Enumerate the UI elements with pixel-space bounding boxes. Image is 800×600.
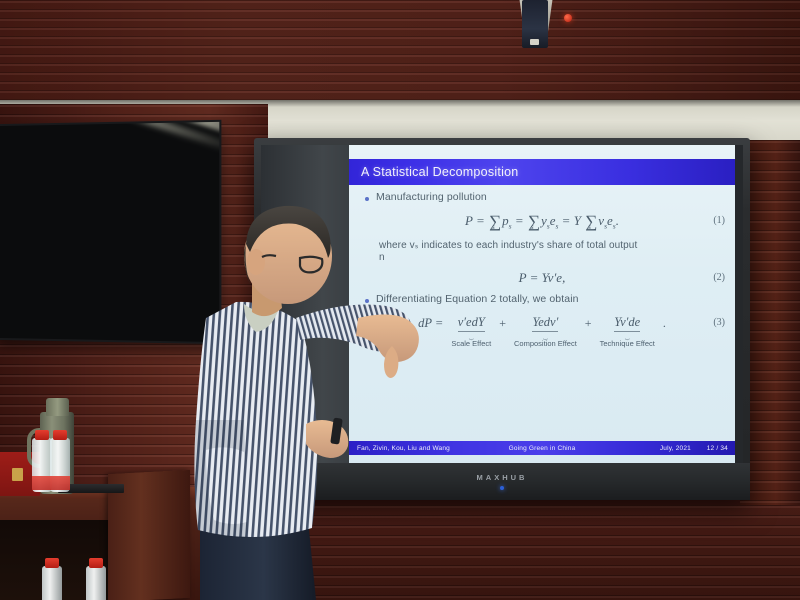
decomposition-term-scale: v′edY ⏟ Scale Effect xyxy=(451,315,491,348)
eq1-period: . xyxy=(616,213,619,228)
eq1-term-3-lead: Y xyxy=(574,213,581,228)
technique-effect-label: Technique Effect xyxy=(600,339,655,348)
slide-title-bar: A Statistical Decomposition xyxy=(349,159,735,185)
composition-effect-label: Composition Effect xyxy=(514,339,577,348)
equation-1-math: P = ∑sps = ∑syses = Y ∑svses. xyxy=(465,210,619,231)
footer-authors: Fan, Zivin, Kou, Liu and Wang xyxy=(357,445,450,452)
bullet-dot-icon xyxy=(365,197,369,201)
water-bottle-label xyxy=(50,476,70,490)
slide-note-occluded-text: n xyxy=(379,252,735,263)
decomposition-plus-1: + xyxy=(499,316,506,331)
decomposition-lead: dP = xyxy=(418,316,443,331)
water-bottle-cap xyxy=(89,558,103,568)
slide-note-text: where vₛ indicates to each industry's sh… xyxy=(379,240,735,251)
eq1-equals-3: = xyxy=(562,213,571,228)
equation-1-number: (1) xyxy=(713,215,725,226)
slide-footer-bar: Fan, Zivin, Kou, Liu and Wang Going Gree… xyxy=(349,441,735,455)
bullet-dot-icon xyxy=(365,299,369,303)
bullet-2-label: Differentiating Equation 2 totally, we o… xyxy=(376,293,579,305)
letterbox-pillar-right xyxy=(735,145,743,463)
eq1-sum-2-index: s xyxy=(531,223,534,231)
thermos-cap xyxy=(46,398,69,416)
equation-2-math: P = Yv′e, xyxy=(519,270,566,286)
equation-2-number: (2) xyxy=(713,272,725,283)
technique-effect-brace: ⏟ xyxy=(625,333,630,338)
ceiling-wall-panel xyxy=(0,0,800,108)
ceiling-camera-device xyxy=(522,0,548,48)
composition-effect-brace: ⏟ xyxy=(543,333,548,338)
ceiling-device-indicator-light xyxy=(564,14,572,22)
red-box-emblem-icon xyxy=(12,468,23,481)
slide-bullet-1: Manufacturing pollution xyxy=(365,191,735,203)
eq1-sum-3: ∑s xyxy=(584,210,598,230)
presentation-slide[interactable]: A Statistical Decomposition Manufacturin… xyxy=(349,145,735,463)
bullet-1-label: Manufacturing pollution xyxy=(376,191,487,203)
eq1-sum-1: ∑s xyxy=(488,210,502,230)
slide-body: Manufacturing pollution P = ∑sps = ∑syse… xyxy=(349,191,735,431)
display-screen[interactable]: A Statistical Decomposition Manufacturin… xyxy=(261,145,743,463)
decomposition-plus-2: + xyxy=(585,316,592,331)
water-bottle-bottom-2 xyxy=(86,566,106,600)
technique-effect-math: Yv′de xyxy=(614,315,640,332)
eq1-sum-3-index: s xyxy=(588,223,591,231)
water-bottle-label xyxy=(32,476,52,490)
decomposition-term-technique: Yv′de ⏟ Technique Effect xyxy=(600,315,655,348)
equation-3-row: dP = v′edY ⏟ Scale Effect + Yedv′ ⏟ Comp… xyxy=(349,315,735,348)
water-bottle-cap xyxy=(53,430,67,440)
decomposition-trailing-period: . xyxy=(663,316,666,331)
footer-date: July, 2021 xyxy=(660,445,691,452)
scale-effect-label: Scale Effect xyxy=(451,339,491,348)
wall-lower-panel xyxy=(160,505,800,600)
footer-presentation-title: Going Green in China xyxy=(509,445,576,452)
tv-glare-reflection-secondary xyxy=(61,120,222,155)
footer-page-number: 12 / 34 xyxy=(707,445,728,452)
eq1-term-1-sub: s xyxy=(509,222,512,231)
slide-bullet-2: Differentiating Equation 2 totally, we o… xyxy=(365,293,735,305)
scale-effect-brace: ⏟ xyxy=(469,333,474,338)
eq1-equals-2: = xyxy=(515,213,524,228)
maxhub-brand-label: MAXHUB xyxy=(477,473,528,482)
eq1-lhs: P xyxy=(465,213,473,228)
eq1-term-2b-sub: s xyxy=(555,222,558,231)
equation-3-number: (3) xyxy=(713,317,725,328)
equation-2-row: P = Yv′e, (2) xyxy=(349,270,735,286)
scale-effect-math: v′edY xyxy=(458,315,485,332)
eq1-sum-2: ∑s xyxy=(527,210,541,230)
display-power-led xyxy=(500,486,504,490)
composition-effect-math: Yedv′ xyxy=(532,315,558,332)
slide-title: A Statistical Decomposition xyxy=(361,165,519,179)
letterbox-pillar-left xyxy=(261,145,349,463)
maxhub-interactive-display[interactable]: A Statistical Decomposition Manufacturin… xyxy=(254,138,750,500)
decomposition-term-composition: Yedv′ ⏟ Composition Effect xyxy=(514,315,577,348)
display-bottom-bezel: MAXHUB xyxy=(254,463,750,500)
eq1-sum-1-index: s xyxy=(492,223,495,231)
presentation-room-photo: A Statistical Decomposition Manufacturin… xyxy=(0,0,800,600)
secondary-tv-screen xyxy=(0,120,221,344)
eq1-equals-1: = xyxy=(476,213,485,228)
water-bottle-cap xyxy=(35,430,49,440)
water-bottle-cap xyxy=(45,558,59,568)
equation-1-row: P = ∑sps = ∑syses = Y ∑svses. (1) xyxy=(349,210,735,231)
water-bottle-bottom-1 xyxy=(42,566,62,600)
